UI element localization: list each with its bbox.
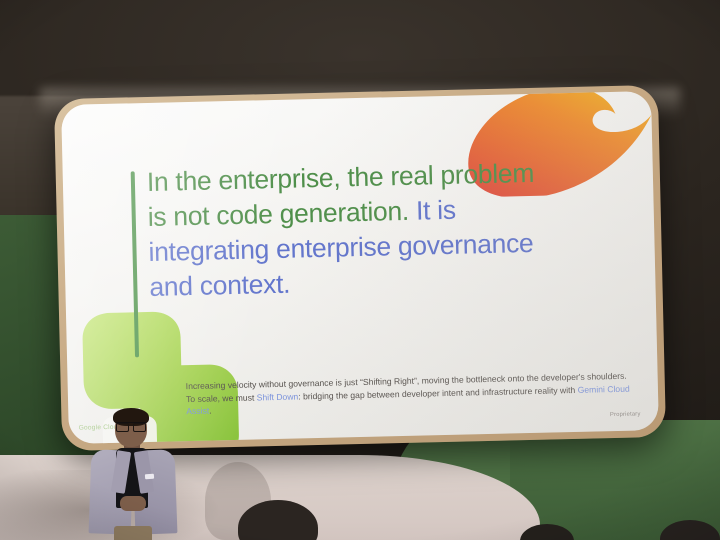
body-text-part3: . — [209, 406, 212, 416]
slide-surface: In the enterprise, the real problem is n… — [61, 91, 659, 444]
body-link-shift-down: Shift Down — [257, 391, 299, 402]
projection-screen: In the enterprise, the real problem is n… — [54, 85, 666, 451]
presenter-trousers — [114, 526, 152, 540]
presentation-photo: In the enterprise, the real problem is n… — [0, 0, 720, 540]
slide-headline: In the enterprise, the real problem is n… — [147, 155, 554, 304]
slide-body-copy: Increasing velocity without governance i… — [186, 369, 639, 417]
presenter — [82, 408, 186, 540]
presenter-glasses — [116, 422, 146, 429]
confidentiality-label: Proprietary — [610, 411, 641, 418]
presenter-pocket-square — [145, 474, 154, 480]
presenter-hands — [120, 496, 146, 511]
headline-green-text: In the enterprise, the real problem is n… — [147, 158, 535, 232]
